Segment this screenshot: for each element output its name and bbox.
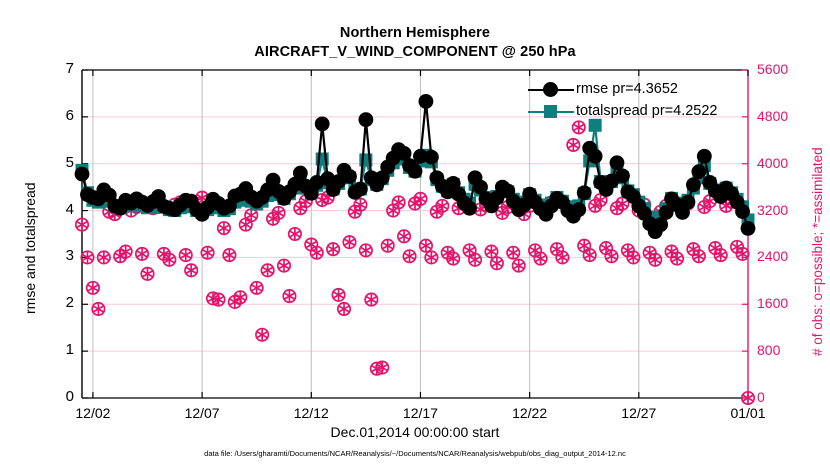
y-left-tick-label: 5	[4, 154, 74, 171]
x-tick-label: 12/02	[53, 405, 133, 421]
y-right-tick-label: 5600	[757, 61, 788, 77]
x-tick-label: 01/01	[708, 405, 788, 421]
x-axis-label: Dec.01,2014 00:00:00 start	[0, 424, 830, 440]
y-left-tick-label: 2	[4, 294, 74, 311]
x-tick-label: 12/17	[380, 405, 460, 421]
y-left-tick-label: 0	[4, 388, 74, 405]
y-right-tick-label: 1600	[757, 295, 788, 311]
y-right-tick-label: 3200	[757, 202, 788, 218]
legend-item-rmse[interactable]: rmse pr=4.3652	[528, 78, 717, 100]
y-right-tick-label: 0	[757, 389, 765, 405]
data-file-note: data file: /Users/gharamti/Documents/NCA…	[0, 449, 830, 458]
y-right-tick-label: 4800	[757, 108, 788, 124]
y-right-tick-label: 4000	[757, 155, 788, 171]
y-left-tick-label: 4	[4, 201, 74, 218]
legend-item-totalspread[interactable]: totalspread pr=4.2522	[528, 100, 717, 122]
y-axis-right-label: # of obs: o=possible; *=assimilated	[810, 147, 825, 356]
x-tick-label: 12/27	[599, 405, 679, 421]
y-left-tick-label: 7	[4, 60, 74, 77]
y-right-tick-label: 800	[757, 342, 780, 358]
legend-label-totalspread: totalspread pr=4.2522	[574, 103, 717, 119]
legend-label-rmse: rmse pr=4.3652	[574, 81, 678, 97]
legend-marker-circle-icon	[528, 79, 574, 99]
y-axis-left-label: rmse and totalspread	[22, 182, 38, 314]
x-tick-label: 12/22	[490, 405, 570, 421]
plot-canvas	[0, 0, 830, 470]
x-tick-label: 12/12	[271, 405, 351, 421]
x-tick-label: 12/07	[162, 405, 242, 421]
y-left-tick-label: 1	[4, 341, 74, 358]
chart-figure: Northern Hemisphere AIRCRAFT_V_WIND_COMP…	[0, 0, 830, 470]
y-left-tick-label: 3	[4, 247, 74, 264]
y-left-tick-label: 6	[4, 107, 74, 124]
y-right-tick-label: 2400	[757, 248, 788, 264]
legend-marker-square-icon	[528, 101, 574, 121]
chart-legend: rmse pr=4.3652 totalspread pr=4.2522	[528, 78, 717, 122]
